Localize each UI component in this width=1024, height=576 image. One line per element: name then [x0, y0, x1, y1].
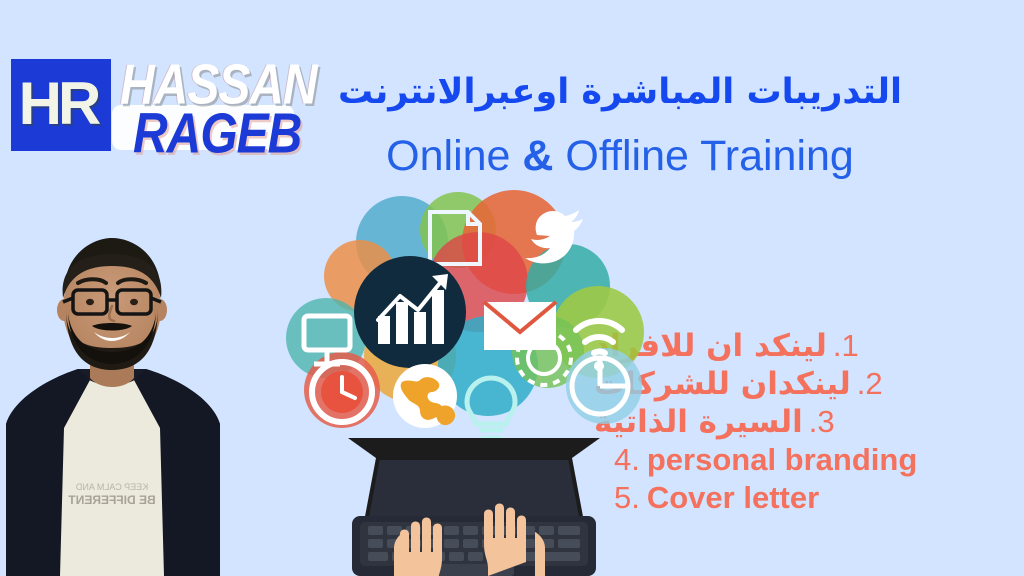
headline-arabic: التدريبات المباشرة اوعبرالانترنت [300, 72, 940, 112]
envelope-icon [484, 302, 556, 350]
headline-english: Online & Offline Training [300, 132, 940, 181]
brand-logo: HR HASSAN RAGEB [8, 57, 308, 155]
poster-canvas: HR HASSAN RAGEB التدريبات المباشرة اوعبر… [0, 0, 1024, 576]
logo-last-name: RAGEB [133, 102, 301, 167]
clock-icon [312, 362, 372, 422]
list-item-number: 1. [833, 328, 859, 364]
headline-english-part1: Online [386, 132, 522, 180]
list-item-label: Cover letter [647, 480, 819, 516]
svg-text:KEEP CALM AND: KEEP CALM AND [75, 482, 148, 492]
svg-text:BE DIFFERENT: BE DIFFERENT [68, 493, 156, 507]
logo-mark-text: HR [8, 57, 108, 149]
headline-english-part2: Offline Training [553, 132, 853, 180]
laptop-icon [348, 438, 600, 576]
presenter-photo: KEEP CALM AND BE DIFFERENT [0, 228, 230, 576]
list-item-number: 2. [857, 366, 883, 402]
icon-cloud-graphic [282, 190, 662, 576]
globe-icon [393, 364, 457, 428]
headline-ampersand: & [522, 132, 553, 180]
list-item-number: 3. [809, 404, 835, 440]
list-item-label: personal branding [647, 442, 917, 478]
chart-circle [354, 256, 466, 368]
